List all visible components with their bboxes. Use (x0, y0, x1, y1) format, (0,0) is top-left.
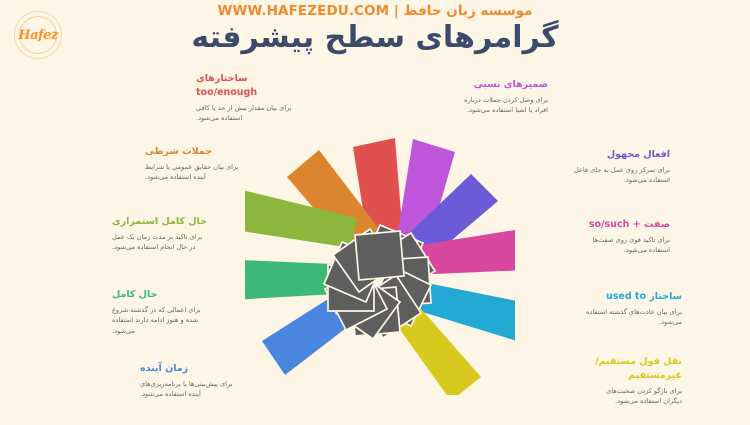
callout-used-to: ساختار used to برای بیان عادت‌های گذشته … (500, 290, 682, 328)
callout-title-present-perfect-continuous: حال کامل استمراری (112, 215, 300, 229)
callout-title-relative: ضمیرهای نسبی (398, 78, 548, 92)
callout-title-used-to: ساختار used to (500, 290, 682, 304)
site-url: موسسه زبان حافظ | WWW.HAFEZEDU.COM (0, 3, 750, 19)
callout-desc-reported-speech: برای بازگو کردن صحبت‌های دیگران استفاده … (500, 386, 682, 407)
callout-desc-passive: برای تمرکز روی عمل به جای فاعل استفاده م… (500, 165, 670, 186)
callout-structures: ساختارهای too/enough برای بیان مقدار بیش… (196, 72, 348, 124)
callout-title-future: زمان آینده (140, 362, 300, 376)
callout-future: زمان آینده برای پیش‌بینی‌ها یا برنامه‌ری… (140, 362, 300, 400)
header: Hafez موسسه زبان حافظ | WWW.HAFEZEDU.COM… (0, 0, 750, 68)
infographic-canvas: Hafez موسسه زبان حافظ | WWW.HAFEZEDU.COM… (0, 0, 750, 425)
callout-conditional: جملات شرطی برای بیان حقایق عمومی یا شرای… (145, 145, 300, 183)
callout-title-structures: ساختارهای too/enough (196, 72, 348, 100)
callout-so-such: صفت + so/such برای تاکید قوی روی صفت‌ها … (500, 218, 670, 256)
callout-present-perfect: حال کامل برای اعمالی که در گذشته شروع شد… (112, 288, 300, 337)
callout-title-present-perfect: حال کامل (112, 288, 300, 302)
callout-present-perfect-continuous: حال کامل استمراری برای تاکید بر مدت زمان… (112, 215, 300, 253)
callout-passive: افعال مجهول برای تمرکز روی عمل به جای فا… (500, 148, 670, 186)
callout-desc-present-perfect-continuous: برای تاکید بر مدت زمان یک عمل در حال انج… (112, 232, 300, 253)
callout-desc-conditional: برای بیان حقایق عمومی یا شرایط آینده است… (145, 162, 300, 183)
page-title: گرامرهای سطح پیشرفته (0, 18, 750, 59)
callout-desc-so-such: برای تاکید قوی روی صفت‌ها استفاده می‌شود… (500, 235, 670, 256)
callout-desc-present-perfect: برای اعمالی که در گذشته شروع شده و هنوز … (112, 305, 300, 337)
callout-reported-speech: نقل قول مستقیم/ غیرمستقیم برای بازگو کرد… (500, 355, 682, 407)
callout-title-reported-speech: نقل قول مستقیم/ غیرمستقیم (500, 355, 682, 383)
callout-title-so-such: صفت + so/such (500, 218, 670, 232)
callout-desc-relative: برای وصل کردن جملات درباره افراد یا اشیا… (398, 95, 548, 116)
callout-desc-structures: برای بیان مقدار بیش از حد یا کافی استفاد… (196, 103, 348, 124)
callout-desc-future: برای پیش‌بینی‌ها یا برنامه‌ریزی‌های آیند… (140, 379, 300, 400)
callout-title-passive: افعال مجهول (500, 148, 670, 162)
callout-relative: ضمیرهای نسبی برای وصل کردن جملات درباره … (398, 78, 548, 116)
callout-desc-used-to: برای بیان عادت‌های گذشته استفاده می‌شود. (500, 307, 682, 328)
callout-title-conditional: جملات شرطی (145, 145, 300, 159)
